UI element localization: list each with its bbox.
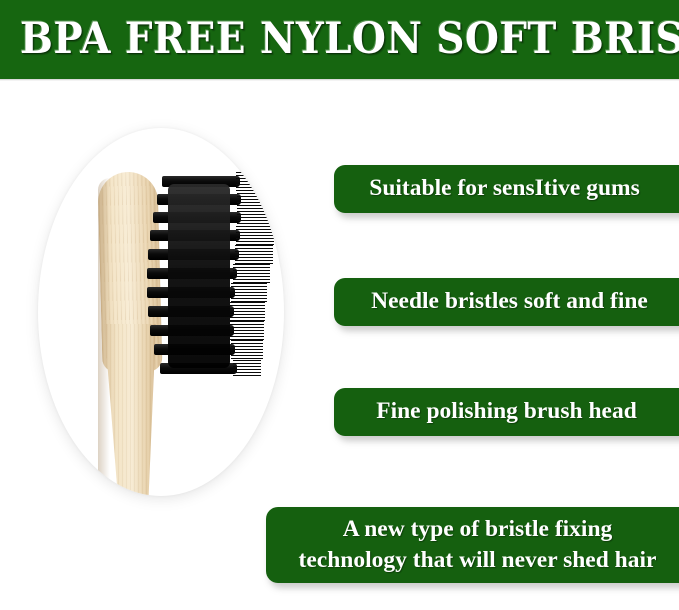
brush-bristles [144,176,264,406]
header-divider [0,79,679,81]
feature-badge-1-label: Suitable for sensItive gums [355,177,668,201]
feature-badge-3-label: Fine polishing brush head [362,400,661,424]
feature-badge-2: Needle bristles soft and fine [334,278,679,326]
page-title: BPA FREE NYLON SOFT BRISTLES [20,13,604,67]
product-image-oval [38,128,284,496]
feature-badge-4-line-1: A new type of bristle fixing [299,514,657,545]
feature-badge-4-label: A new type of bristle fixing technology … [291,514,665,576]
feature-badge-4: A new type of bristle fixing technology … [266,507,679,583]
header-banner: BPA FREE NYLON SOFT BRISTLES [0,0,679,79]
feature-badge-1: Suitable for sensItive gums [334,165,679,213]
feature-badge-2-label: Needle bristles soft and fine [357,290,666,314]
feature-badge-3: Fine polishing brush head [334,388,679,436]
feature-badge-4-line-2: technology that will never shed hair [299,545,657,576]
infographic-page: BPA FREE NYLON SOFT BRISTLES [0,0,679,610]
brush-handle-shading [98,178,110,496]
toothbrush-illustration [38,128,284,496]
